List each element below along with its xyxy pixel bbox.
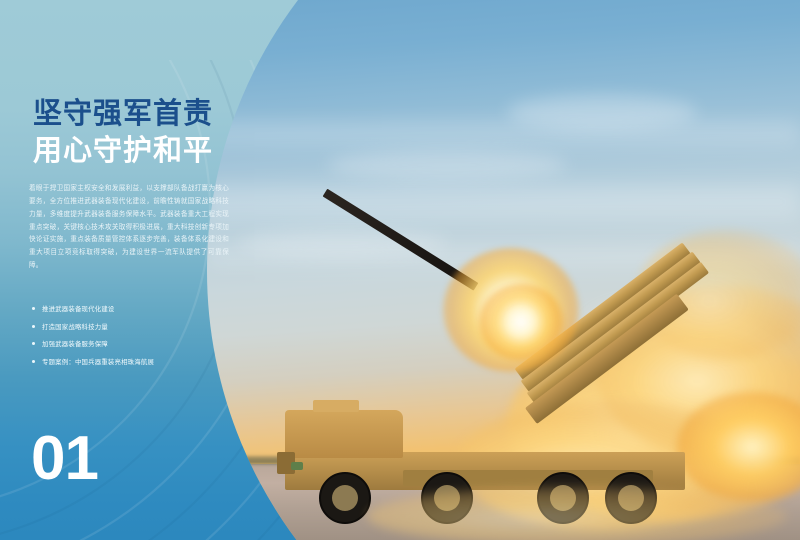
cab-roof-detail	[313, 400, 359, 412]
list-item-label: 专题案例：中国兵器重装亮相珠海航展	[42, 357, 154, 366]
bullet-dot-icon	[32, 360, 35, 363]
cloud	[327, 150, 567, 180]
truck-wheel	[319, 472, 371, 524]
cloud	[507, 95, 697, 129]
slide-number: 01	[31, 428, 98, 490]
list-item-label: 打造国家战略科技力量	[42, 322, 108, 331]
bullet-dot-icon	[32, 325, 35, 328]
bullet-list: 推进武器装备现代化建设 打造国家战略科技力量 加强武器装备服务保障 专题案例：中…	[32, 300, 247, 370]
bullet-dot-icon	[32, 307, 35, 310]
body-paragraph: 着眼于捍卫国家主权安全和发展利益，以支撑部队备战打赢为核心要务，全方位推进武器装…	[29, 183, 229, 273]
list-item[interactable]: 加强武器装备服务保障	[32, 335, 247, 353]
list-item[interactable]: 打造国家战略科技力量	[32, 318, 247, 336]
headlight	[291, 462, 303, 470]
title-line-1: 坚守强军首责	[33, 96, 253, 133]
list-item-label: 加强武器装备服务保障	[42, 339, 108, 348]
list-item[interactable]: 专题案例：中国兵器重装亮相珠海航展	[32, 353, 247, 371]
ground-dust	[367, 486, 787, 540]
list-item-label: 推进武器装备现代化建设	[42, 304, 115, 313]
cloud-band	[207, 185, 800, 219]
slide-root: 坚守强军首责 用心守护和平 着眼于捍卫国家主权安全和发展利益，以支撑部队备战打赢…	[0, 0, 800, 540]
bullet-dot-icon	[32, 342, 35, 345]
cloud-band	[207, 120, 800, 146]
left-content: 坚守强军首责 用心守护和平 着眼于捍卫国家主权安全和发展利益，以支撑部队备战打赢…	[0, 0, 260, 540]
title-line-2: 用心守护和平	[33, 133, 253, 170]
missile-launch-photo	[207, 0, 800, 540]
list-item[interactable]: 推进武器装备现代化建设	[32, 300, 247, 318]
muzzle-flash	[479, 284, 563, 360]
photo-circle-mask	[207, 0, 800, 540]
truck-cab	[285, 410, 403, 458]
page-title: 坚守强军首责 用心守护和平	[33, 96, 253, 170]
